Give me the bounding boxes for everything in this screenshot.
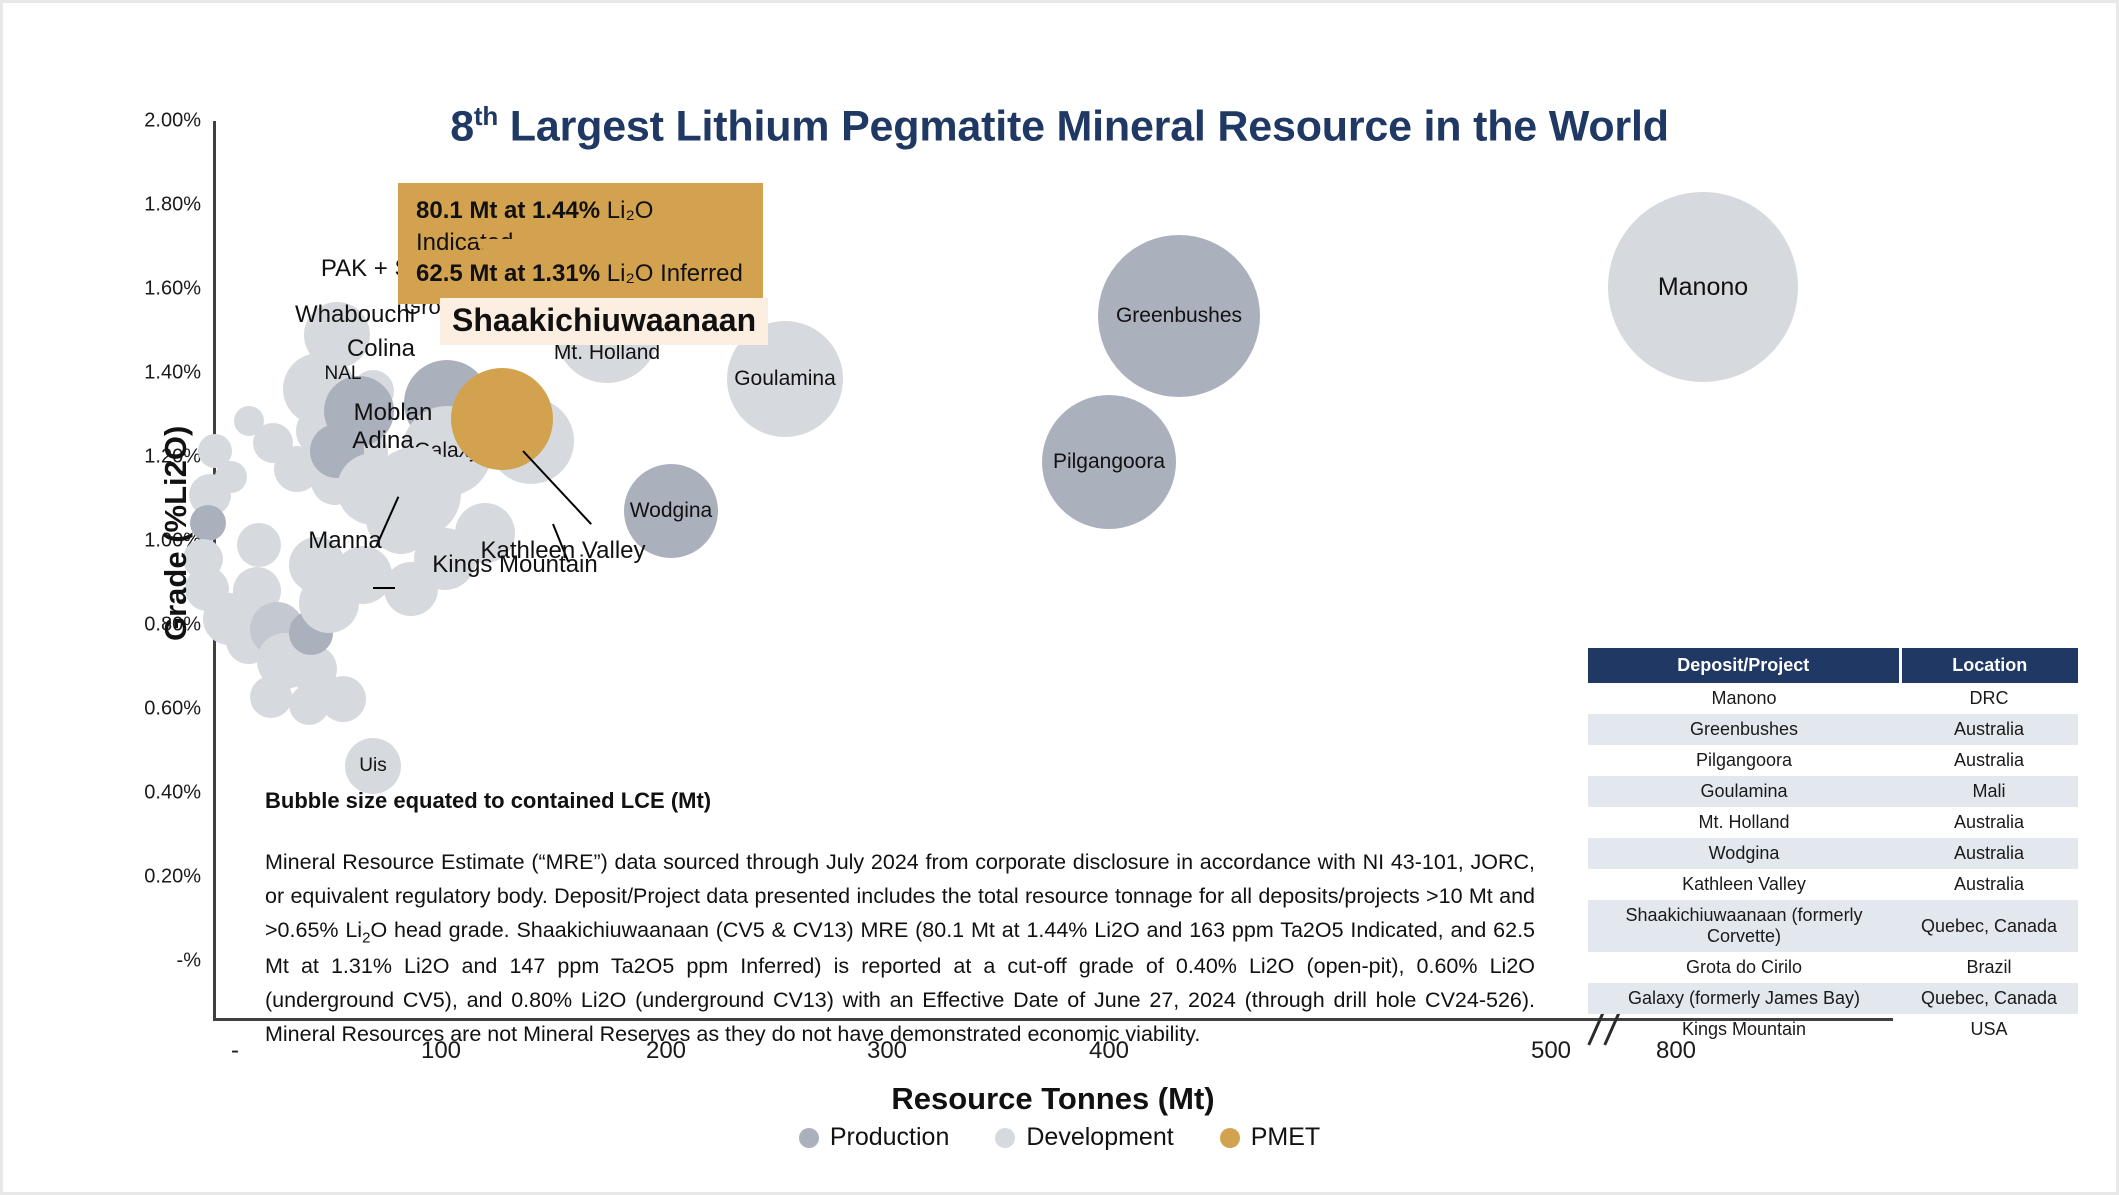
bubble-manna[interactable]: [299, 573, 359, 633]
bubble-label: Goulamina: [734, 367, 836, 391]
table-row: Kathleen ValleyAustralia: [1588, 869, 2078, 900]
bubble-unlabeled: [190, 505, 226, 541]
callout-tail: [475, 239, 527, 273]
legend-item-development[interactable]: Development: [995, 1123, 1173, 1152]
cell-deposit: Kathleen Valley: [1588, 869, 1900, 900]
table-header-deposit: Deposit/Project: [1588, 648, 1900, 683]
cell-location: DRC: [1900, 683, 2078, 714]
cell-deposit: Greenbushes: [1588, 714, 1900, 745]
cell-location: Australia: [1900, 745, 2078, 776]
table-row: Grota do CiriloBrazil: [1588, 952, 2078, 983]
y-tick-label: 0.40%: [41, 782, 201, 805]
bubble-unlabeled: [320, 676, 366, 722]
cell-location: Quebec, Canada: [1900, 900, 2078, 952]
callout-line-1: 80.1 Mt at 1.44% Li₂O Indicated: [416, 195, 747, 258]
y-tick-label: 2.00%: [41, 110, 201, 133]
bubble-unlabeled: [250, 676, 292, 718]
label-colina: Colina: [347, 335, 415, 363]
legend-label: Production: [830, 1123, 950, 1152]
table-header-row: Deposit/Project Location: [1588, 648, 2078, 683]
footnote-part-2: O head grade. Shaakichiuwaanaan (CV5 & C…: [265, 918, 1535, 1046]
bubble-pilgangoora[interactable]: Pilgangoora: [1042, 395, 1176, 529]
bubble-label: Wodgina: [630, 499, 713, 523]
table-row: Shaakichiuwaanaan (formerly Corvette)Que…: [1588, 900, 2078, 952]
deposit-location-table: Deposit/Project Location ManonoDRC Green…: [1588, 648, 2078, 1045]
label-nal: NAL: [325, 363, 362, 385]
cell-deposit: Manono: [1588, 683, 1900, 714]
legend-swatch-icon: [799, 1128, 819, 1148]
bubble-greenbushes[interactable]: Greenbushes: [1098, 235, 1260, 397]
cell-deposit: Shaakichiuwaanaan (formerly Corvette): [1588, 900, 1900, 952]
cell-deposit: Grota do Cirilo: [1588, 952, 1900, 983]
cell-location: Mali: [1900, 776, 2078, 807]
bubble-label: Pilgangoora: [1053, 450, 1165, 474]
legend-swatch-icon: [1220, 1128, 1240, 1148]
bubble-label: Greenbushes: [1116, 304, 1242, 328]
cell-deposit: Pilgangoora: [1588, 745, 1900, 776]
cell-location: Australia: [1900, 807, 2078, 838]
y-tick-label: 0.20%: [41, 866, 201, 889]
table-row: Kings MountainUSA: [1588, 1014, 2078, 1045]
legend-label: PMET: [1251, 1123, 1320, 1152]
bubble-label: Uis: [359, 755, 386, 777]
table-row: GoulaminaMali: [1588, 776, 2078, 807]
footnote-heading: Bubble size equated to contained LCE (Mt…: [265, 788, 711, 814]
table-row: GreenbushesAustralia: [1588, 714, 2078, 745]
footnote-body: Mineral Resource Estimate (“MRE”) data s…: [265, 846, 1535, 1052]
legend-item-pmet[interactable]: PMET: [1220, 1123, 1320, 1152]
x-axis-title: Resource Tonnes (Mt): [213, 1081, 1893, 1117]
cell-location: Brazil: [1900, 952, 2078, 983]
table-row: PilgangooraAustralia: [1588, 745, 2078, 776]
table-header-location: Location: [1900, 648, 2078, 683]
callout-line-2: 62.5 Mt at 1.31% Li₂O Inferred: [416, 258, 747, 290]
y-tick-label: 1.80%: [41, 194, 201, 217]
cell-deposit: Wodgina: [1588, 838, 1900, 869]
legend-label: Development: [1026, 1123, 1173, 1152]
y-tick-label: 1.60%: [41, 278, 201, 301]
cell-deposit: Kings Mountain: [1588, 1014, 1900, 1045]
legend-item-production[interactable]: Production: [799, 1123, 950, 1152]
cell-deposit: Goulamina: [1588, 776, 1900, 807]
bubble-shaakichiuwaanaan[interactable]: [451, 368, 553, 470]
label-moblan: Moblan: [354, 399, 433, 427]
y-tick-label: 0.60%: [41, 698, 201, 721]
cell-location: Australia: [1900, 838, 2078, 869]
cell-deposit: Galaxy (formerly James Bay): [1588, 983, 1900, 1014]
bubble-unlabeled: [237, 523, 281, 567]
table-row: ManonoDRC: [1588, 683, 2078, 714]
bubble-label: Manono: [1658, 273, 1748, 302]
label-manna: Manna: [308, 527, 381, 555]
chart-page: 8th Largest Lithium Pegmatite Mineral Re…: [0, 0, 2119, 1195]
bubble-uis[interactable]: Uis: [345, 738, 401, 794]
resource-callout: 80.1 Mt at 1.44% Li₂O Indicated 62.5 Mt …: [398, 183, 763, 304]
label-whabouchi: Whabouchi: [295, 301, 415, 329]
y-axis-title: Grade (%Li2O): [158, 426, 194, 641]
highlight-label-shaakichiuwaanaan: Shaakichiuwaanaan: [440, 298, 768, 345]
cell-location: Australia: [1900, 869, 2078, 900]
table-row: Galaxy (formerly James Bay)Quebec, Canad…: [1588, 983, 2078, 1014]
label-adina: Adina: [352, 427, 413, 455]
y-tick-label: -%: [41, 950, 201, 973]
y-tick-label: 1.40%: [41, 362, 201, 385]
table-row: Mt. HollandAustralia: [1588, 807, 2078, 838]
legend-swatch-icon: [995, 1128, 1015, 1148]
cell-location: Quebec, Canada: [1900, 983, 2078, 1014]
cell-location: USA: [1900, 1014, 2078, 1045]
label-kings-mountain: Kings Mountain: [432, 551, 597, 579]
bubble-manono[interactable]: Manono: [1608, 192, 1798, 382]
chart-legend: Production Development PMET: [3, 1123, 2116, 1152]
bubble-unlabeled: [215, 461, 247, 493]
cell-deposit: Mt. Holland: [1588, 807, 1900, 838]
cell-location: Australia: [1900, 714, 2078, 745]
leader-line-kings-mountain-stub: [373, 587, 395, 589]
table-row: WodginaAustralia: [1588, 838, 2078, 869]
